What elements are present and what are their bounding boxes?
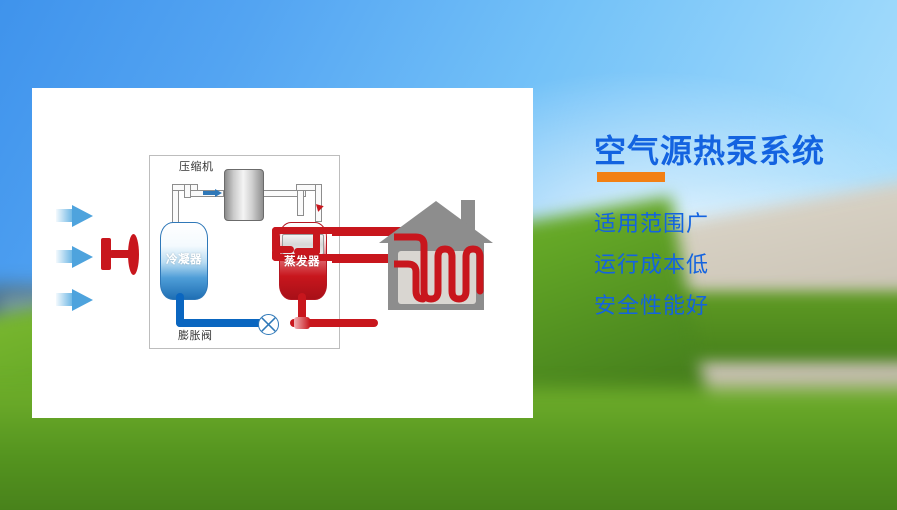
pipe-condenser-riser-inner	[184, 184, 191, 198]
condenser-label: 冷凝器	[166, 251, 202, 267]
pipe-evaporator-downcomer-inner	[297, 190, 304, 216]
evaporator-label: 蒸发器	[284, 253, 320, 269]
air-arrow-tail-top	[56, 209, 72, 222]
flow-arrow-suction	[215, 189, 222, 197]
compressor-label: 压缩机	[179, 158, 214, 174]
air-arrow-middle	[72, 246, 93, 268]
title-underline-rule	[597, 172, 665, 182]
feature-item-0: 适用范围广	[594, 206, 709, 238]
flow-arrow-expansion-out	[294, 317, 310, 329]
air-arrow-top	[72, 205, 93, 227]
expansion-valve	[258, 314, 279, 335]
air-arrow-bottom	[72, 289, 93, 311]
flow-arrow-suction-tail	[203, 191, 216, 195]
compressor-unit	[224, 169, 264, 221]
air-arrow-tail-bottom	[56, 293, 72, 306]
air-arrow-tail-middle	[56, 250, 72, 263]
expansion-valve-cross-icon	[259, 315, 278, 334]
evaporator-coil-bend-left-2	[272, 248, 279, 261]
feature-item-1: 运行成本低	[594, 247, 709, 279]
pipe-evaporator-downcomer	[315, 184, 322, 222]
floor-heating-coil-icon	[394, 227, 486, 309]
fan-blade	[128, 234, 139, 275]
page-title: 空气源热泵系统	[594, 126, 825, 172]
slide-root: 压缩机 冷凝器 蒸发器	[0, 0, 897, 510]
expansion-valve-label: 膨胀阀	[178, 327, 213, 343]
feature-item-2: 安全性能好	[594, 288, 709, 320]
diagram-card: 压缩机 冷凝器 蒸发器	[32, 88, 533, 418]
